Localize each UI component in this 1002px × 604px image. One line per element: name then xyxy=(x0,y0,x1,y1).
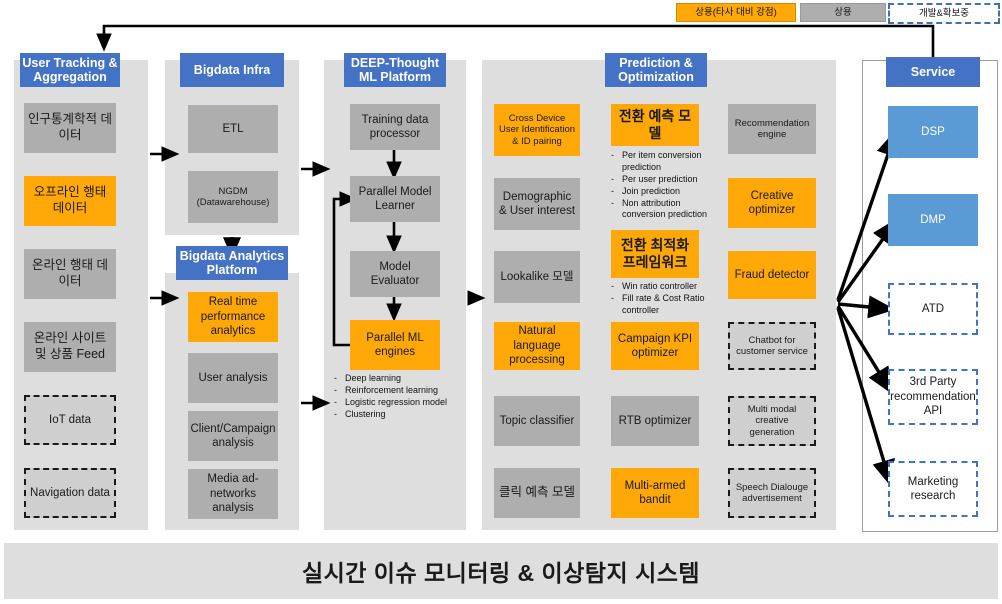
node-media-adnetworks-analysis[interactable]: Media ad-networks analysis xyxy=(188,469,278,519)
node-campaign-kpi-optimizer[interactable]: Campaign KPI optimizer xyxy=(611,322,699,370)
node-label: Parallel Model Learner xyxy=(354,185,436,214)
list-item: -Join prediction xyxy=(611,186,719,198)
node-fraud-detector[interactable]: Fraud detector xyxy=(728,251,816,299)
node-etl[interactable]: ETL xyxy=(188,105,278,153)
node-click-prediction-model[interactable]: 클릭 예측 모델 xyxy=(494,468,580,518)
bullet-text: Win ratio controller xyxy=(622,281,721,293)
bullet-list-ml-engines: -Deep learning -Reinforcement learning -… xyxy=(334,373,466,421)
node-label: Navigation data xyxy=(30,486,110,500)
node-user-analysis[interactable]: User analysis xyxy=(188,353,278,403)
node-label: Media ad-networks analysis xyxy=(192,472,274,515)
node-navigation-data[interactable]: Navigation data xyxy=(24,468,116,518)
node-parallel-ml-engines[interactable]: Parallel ML engines xyxy=(350,320,440,370)
node-label: 전환 예측 모델 xyxy=(615,108,695,143)
node-topic-classifier[interactable]: Topic classifier xyxy=(494,396,580,446)
bullet-list-conversion-prediction: -Per item conversion prediction -Per use… xyxy=(611,150,719,221)
node-label: Demographic & User interest xyxy=(498,190,576,219)
list-item: -Logistic regression model xyxy=(334,397,466,409)
node-dsp[interactable]: DSP xyxy=(888,106,978,158)
node-label: RTB optimizer xyxy=(619,414,692,428)
bullet-dash: - xyxy=(334,397,345,409)
bullet-text: Clustering xyxy=(345,409,466,421)
node-label: Client/Campaign analysis xyxy=(191,422,276,451)
node-label: IoT data xyxy=(49,413,91,427)
node-label: ETL xyxy=(222,122,243,136)
node-client-campaign-analysis[interactable]: Client/Campaign analysis xyxy=(188,411,278,461)
legend-item-commercial-strength: 상용(타사 대비 강점) xyxy=(676,3,796,22)
bullet-text: Join prediction xyxy=(622,186,719,198)
list-item: -Per item conversion prediction xyxy=(611,150,719,174)
node-label: DMP xyxy=(920,213,946,227)
node-label: 인구통계학적 데이터 xyxy=(28,112,112,143)
node-label: DSP xyxy=(921,125,945,139)
node-label: Topic classifier xyxy=(500,414,575,428)
node-multi-modal-creative-generation[interactable]: Multi modal creative generation xyxy=(728,396,816,446)
bullet-text: Reinforcement learning xyxy=(345,385,466,397)
node-conversion-prediction-model[interactable]: 전환 예측 모델 xyxy=(611,104,699,146)
node-label: Marketing research xyxy=(894,475,972,504)
bullet-text: Per user prediction xyxy=(622,174,719,186)
bullet-text: Non attribution conversion prediction xyxy=(622,198,719,222)
node-demographic-data[interactable]: 인구통계학적 데이터 xyxy=(24,103,116,153)
bullet-dash: - xyxy=(334,409,345,421)
node-label: NGDM (Datawarehouse) xyxy=(192,186,274,209)
node-model-evaluator[interactable]: Model Evaluator xyxy=(350,251,440,297)
node-label: Multi-armed bandit xyxy=(615,479,695,508)
node-creative-optimizer[interactable]: Creative optimizer xyxy=(728,178,816,228)
bullet-list-optimization-framework: -Win ratio controller -Fill rate & Cost … xyxy=(611,281,721,317)
header-label: DEEP-Thought ML Platform xyxy=(344,56,446,85)
legend-item-in-development: 개발&확보중 xyxy=(888,3,1000,24)
node-3rd-party-recommendation-api[interactable]: 3rd Party recommendation API xyxy=(888,369,978,425)
header-bigdata-analytics: Bigdata Analytics Platform xyxy=(176,246,288,280)
node-label: 온라인 행태 데이터 xyxy=(28,258,112,289)
node-label: Lookalike 모델 xyxy=(501,270,574,284)
header-label: User Tracking & Aggregation xyxy=(20,56,120,85)
diagram-canvas: 상용(타사 대비 강점) 상용 개발&확보중 xyxy=(0,0,1002,604)
node-offline-behavior-data[interactable]: 오프라인 행태 데이터 xyxy=(24,176,116,226)
node-label: Parallel ML engines xyxy=(354,331,436,360)
bullet-dash: - xyxy=(611,174,622,186)
legend-label: 상용 xyxy=(834,8,851,18)
node-label: Creative optimizer xyxy=(732,189,812,218)
node-label: 3rd Party recommendation API xyxy=(890,375,976,418)
node-realtime-performance-analytics[interactable]: Real time performance analytics xyxy=(188,292,278,342)
node-label: ATD xyxy=(922,302,944,316)
node-label: 온라인 사이트 및 상품 Feed xyxy=(28,331,112,362)
header-label: Prediction & Optimization xyxy=(605,56,707,85)
node-label: 클릭 예측 모델 xyxy=(499,485,575,501)
node-online-behavior-data[interactable]: 온라인 행태 데이터 xyxy=(24,249,116,299)
node-label: 전환 최적화 프레임워크 xyxy=(615,237,695,272)
header-prediction-optimization: Prediction & Optimization xyxy=(605,53,707,87)
node-training-data-processor[interactable]: Training data processor xyxy=(350,104,440,150)
list-item: -Reinforcement learning xyxy=(334,385,466,397)
header-label: Bigdata Analytics Platform xyxy=(176,249,288,278)
bullet-dash: - xyxy=(611,186,622,198)
node-iot-data[interactable]: IoT data xyxy=(24,395,116,445)
footer-monitoring-system: 실시간 이슈 모니터링 & 이상탐지 시스템 xyxy=(4,543,998,599)
header-label: Service xyxy=(911,65,955,79)
header-service: Service xyxy=(886,57,980,87)
node-label: Speech Dialouge advertisement xyxy=(734,482,810,505)
node-chatbot-customer-service[interactable]: Chatbot for customer service xyxy=(728,322,816,370)
bullet-dash: - xyxy=(334,373,345,385)
node-label: Fraud detector xyxy=(735,268,810,282)
header-ml-platform: DEEP-Thought ML Platform xyxy=(344,53,446,87)
bullet-text: Fill rate & Cost Ratio controller xyxy=(622,293,721,317)
bullet-dash: - xyxy=(611,150,622,174)
node-label: Training data processor xyxy=(354,113,436,142)
node-multi-armed-bandit[interactable]: Multi-armed bandit xyxy=(611,468,699,518)
node-demographic-user-interest[interactable]: Demographic & User interest xyxy=(494,178,580,230)
list-item: -Per user prediction xyxy=(611,174,719,186)
node-label: Campaign KPI optimizer xyxy=(615,332,695,361)
node-label: Multi modal creative generation xyxy=(734,404,810,438)
node-label: 오프라인 행태 데이터 xyxy=(28,185,112,216)
header-bigdata-infra: Bigdata Infra xyxy=(180,53,284,87)
header-user-tracking: User Tracking & Aggregation xyxy=(20,53,120,87)
node-online-site-product-feed[interactable]: 온라인 사이트 및 상품 Feed xyxy=(24,322,116,372)
list-item: -Win ratio controller xyxy=(611,281,721,293)
node-label: Model Evaluator xyxy=(354,260,436,289)
node-lookalike-model[interactable]: Lookalike 모델 xyxy=(494,251,580,303)
list-item: -Fill rate & Cost Ratio controller xyxy=(611,293,721,317)
node-natural-language-processing[interactable]: Natural language processing xyxy=(494,322,580,370)
bullet-dash: - xyxy=(611,198,622,222)
node-conversion-optimization-framework[interactable]: 전환 최적화 프레임워크 xyxy=(611,230,699,278)
bullet-text: Per item conversion prediction xyxy=(622,150,719,174)
bullet-text: Deep learning xyxy=(345,373,466,385)
node-label: User analysis xyxy=(198,371,267,385)
node-speech-dialogue-advertisement[interactable]: Speech Dialouge advertisement xyxy=(728,468,816,518)
legend-item-commercial: 상용 xyxy=(800,3,886,22)
node-marketing-research[interactable]: Marketing research xyxy=(888,461,978,517)
node-atd[interactable]: ATD xyxy=(888,283,978,335)
node-label: Real time performance analytics xyxy=(192,295,274,338)
list-item: -Deep learning xyxy=(334,373,466,385)
node-cross-device-user-identification[interactable]: Cross Device User Identification & ID pa… xyxy=(494,104,580,156)
bullet-dash: - xyxy=(611,293,622,317)
node-label: Natural language processing xyxy=(498,324,576,367)
node-label: Chatbot for customer service xyxy=(734,335,810,358)
list-item: -Non attribution conversion prediction xyxy=(611,198,719,222)
node-label: Cross Device User Identification & ID pa… xyxy=(498,113,576,147)
legend-label: 개발&확보중 xyxy=(919,9,969,19)
footer-label: 실시간 이슈 모니터링 & 이상탐지 시스템 xyxy=(302,554,700,588)
node-ngdm-datawarehouse[interactable]: NGDM (Datawarehouse) xyxy=(188,171,278,223)
bullet-dash: - xyxy=(334,385,345,397)
node-label: Recommendation engine xyxy=(732,118,812,141)
node-dmp[interactable]: DMP xyxy=(888,194,978,246)
header-label: Bigdata Infra xyxy=(194,63,270,77)
list-item: -Clustering xyxy=(334,409,466,421)
bullet-dash: - xyxy=(611,281,622,293)
node-rtb-optimizer[interactable]: RTB optimizer xyxy=(611,396,699,446)
node-recommendation-engine[interactable]: Recommendation engine xyxy=(728,104,816,154)
node-parallel-model-learner[interactable]: Parallel Model Learner xyxy=(350,176,440,222)
legend-label: 상용(타사 대비 강점) xyxy=(695,8,777,18)
bullet-text: Logistic regression model xyxy=(345,397,466,409)
